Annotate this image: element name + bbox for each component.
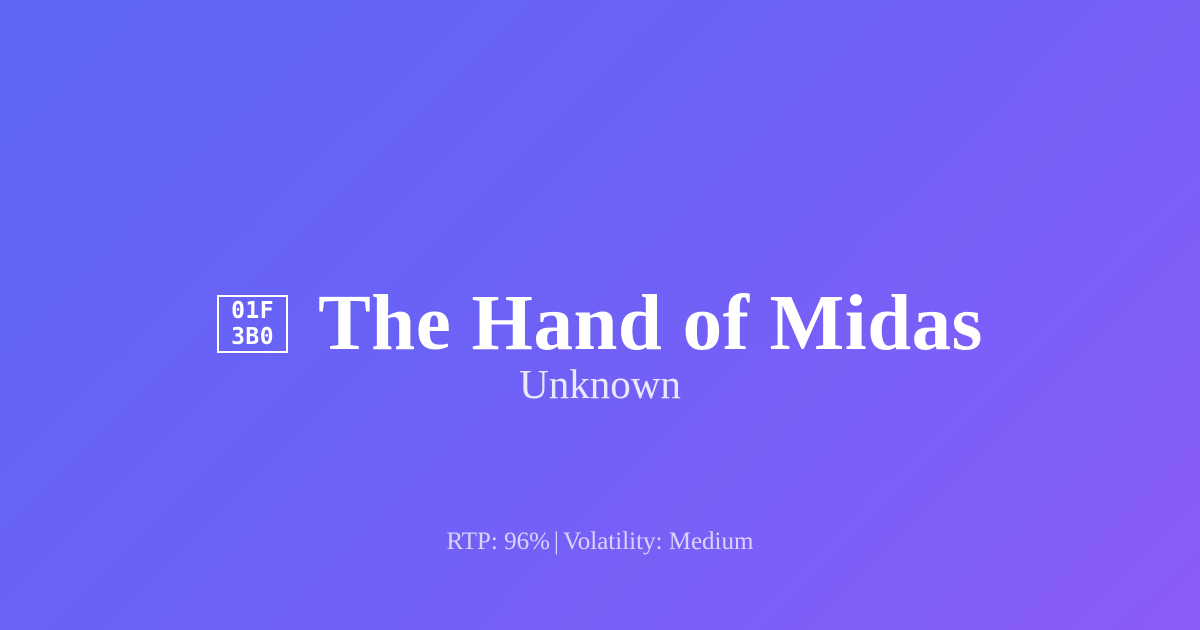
game-info-card: 01F 3B0 The Hand of Midas Unknown RTP: 9…	[0, 0, 1200, 630]
meta-separator: |	[550, 528, 563, 555]
game-provider-subtitle: Unknown	[0, 362, 1200, 407]
slot-machine-emoji-icon: 01F 3B0	[217, 295, 288, 353]
game-meta-line: RTP: 96%|Volatility: Medium	[0, 528, 1200, 556]
game-title: The Hand of Midas	[318, 284, 983, 365]
volatility-value: Volatility: Medium	[563, 528, 754, 555]
codepoint-top: 01F	[231, 298, 274, 324]
codepoint-bottom: 3B0	[231, 324, 274, 350]
rtp-value: RTP: 96%	[447, 528, 550, 555]
